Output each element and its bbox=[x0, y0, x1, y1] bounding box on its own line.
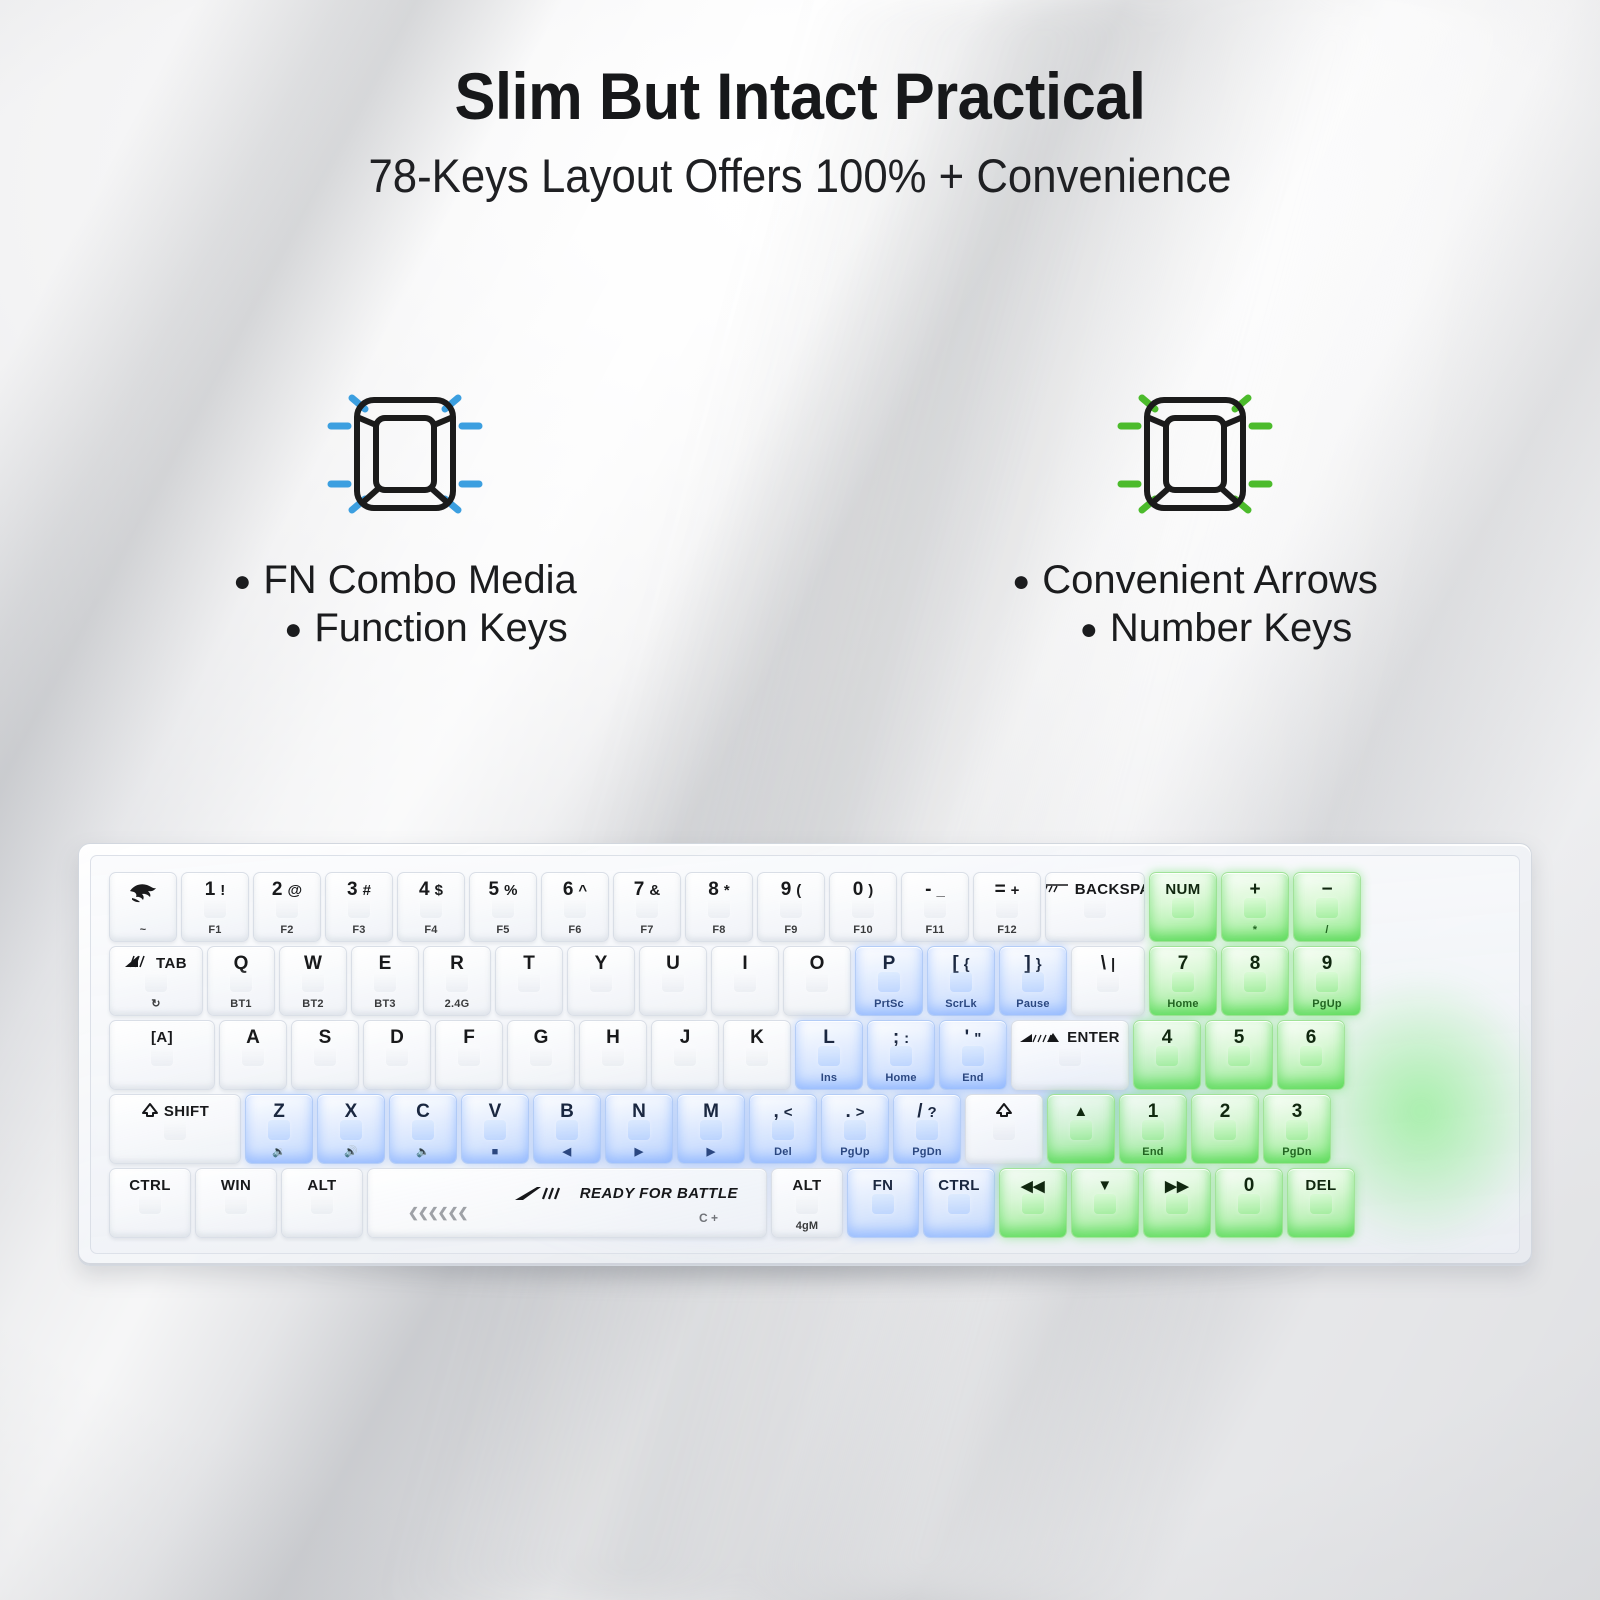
key-legend: U bbox=[640, 954, 706, 973]
key-primary: U bbox=[666, 954, 680, 973]
key-m[interactable]: M▶ bbox=[677, 1094, 745, 1164]
shift-arrow-icon bbox=[141, 1102, 159, 1122]
key-label: ALT bbox=[772, 1176, 842, 1195]
key-sublabel: End bbox=[1120, 1146, 1186, 1158]
key-primary: B bbox=[560, 1102, 574, 1121]
key-primary: M bbox=[703, 1102, 719, 1121]
switch-stem bbox=[708, 898, 730, 918]
key-sublabel: ~ bbox=[110, 924, 176, 936]
key-primary: L bbox=[823, 1028, 835, 1047]
key-primary: \ bbox=[1101, 954, 1106, 973]
key-legend: 5 bbox=[1206, 1028, 1272, 1047]
key-label: ENTER bbox=[1012, 1028, 1128, 1047]
key-legend: 1 bbox=[1120, 1102, 1186, 1121]
key-z[interactable]: Z🔉 bbox=[245, 1094, 313, 1164]
switch-stem bbox=[311, 1194, 333, 1214]
key-legend: 7 bbox=[1150, 954, 1216, 973]
key-legend: H bbox=[580, 1028, 646, 1047]
feature-bullets: ●Convenient Arrows ●Number Keys bbox=[1012, 556, 1378, 652]
key-label: ▶▶ bbox=[1144, 1176, 1210, 1195]
key-y[interactable]: Y bbox=[567, 946, 635, 1016]
switch-stem bbox=[145, 972, 167, 992]
key-sublabel: PgDn bbox=[1264, 1146, 1330, 1158]
key-label: WIN bbox=[196, 1176, 276, 1195]
key-sublabel: F1 bbox=[182, 924, 248, 936]
key-legend: C bbox=[390, 1102, 456, 1121]
key-legend: ]} bbox=[1000, 954, 1066, 973]
switch-stem bbox=[164, 1120, 186, 1140]
key-legend: 1! bbox=[182, 880, 248, 899]
bullet-item: ●FN Combo Media bbox=[233, 556, 577, 604]
key-numpad-0[interactable]: 0 bbox=[1215, 1168, 1283, 1238]
key-legend: D bbox=[364, 1028, 430, 1047]
key-legend: N bbox=[606, 1102, 672, 1121]
key-legend: /? bbox=[894, 1102, 960, 1121]
key-legend: Y bbox=[568, 954, 634, 973]
switch-stem bbox=[806, 972, 828, 992]
key-b[interactable]: B◀ bbox=[533, 1094, 601, 1164]
key-legend: L bbox=[796, 1028, 862, 1047]
key-num[interactable]: NUM bbox=[1149, 872, 1217, 942]
switch-stem bbox=[564, 898, 586, 918]
key-arrow-up[interactable]: ▲ bbox=[1047, 1094, 1115, 1164]
switch-stem bbox=[1156, 1046, 1178, 1066]
switch-stem bbox=[1172, 972, 1194, 992]
switch-stem bbox=[340, 1120, 362, 1140]
switch-stem bbox=[796, 1194, 818, 1214]
key-bracket-left[interactable]: [{ScrLk bbox=[927, 946, 995, 1016]
key-primary: H bbox=[606, 1028, 620, 1047]
switch-stem bbox=[492, 898, 514, 918]
key-sublabel: 2.4G bbox=[424, 998, 490, 1010]
key-tab[interactable]: TAB↻ bbox=[109, 946, 203, 1016]
key-primary: 0 bbox=[1244, 1176, 1255, 1195]
key-primary: = bbox=[995, 880, 1006, 899]
key-numpad-2[interactable]: 2 bbox=[1191, 1094, 1259, 1164]
switch-stem bbox=[890, 1046, 912, 1066]
key-primary: Z bbox=[273, 1102, 285, 1121]
key-primary: W bbox=[304, 954, 322, 973]
key-primary: S bbox=[319, 1028, 332, 1047]
key-comma[interactable]: ,<Del bbox=[749, 1094, 817, 1164]
key-sublabel: * bbox=[1222, 924, 1288, 936]
key-sublabel: F11 bbox=[902, 924, 968, 936]
key-primary: 3 bbox=[347, 880, 358, 899]
key-numpad-3[interactable]: 3PgDn bbox=[1263, 1094, 1331, 1164]
background-vignette bbox=[0, 0, 1600, 1600]
key-secondary: > bbox=[856, 1105, 865, 1120]
key-legend: 5% bbox=[470, 880, 536, 899]
key-l[interactable]: LIns bbox=[795, 1020, 863, 1090]
key-numpad-8[interactable]: 8 bbox=[1221, 946, 1289, 1016]
key-1[interactable]: 1!F1 bbox=[181, 872, 249, 942]
key-primary: 9 bbox=[781, 880, 792, 899]
key-o[interactable]: O bbox=[783, 946, 851, 1016]
key-secondary: _ bbox=[936, 883, 944, 898]
key-legend: S bbox=[292, 1028, 358, 1047]
key-n[interactable]: N▶ bbox=[605, 1094, 673, 1164]
key-primary: + bbox=[1249, 880, 1260, 899]
key-sublabel: F7 bbox=[614, 924, 680, 936]
key-win[interactable]: WIN bbox=[195, 1168, 277, 1238]
headline-block: Slim But Intact Practical 78-Keys Layout… bbox=[0, 58, 1600, 203]
key-primary: A bbox=[246, 1028, 260, 1047]
key-legend: Z bbox=[246, 1102, 312, 1121]
key-legend: 9( bbox=[758, 880, 824, 899]
key-label: ALT bbox=[282, 1176, 362, 1195]
key-legend: '" bbox=[940, 1028, 1006, 1047]
key-media-next[interactable]: ▶▶ bbox=[1143, 1168, 1211, 1238]
key-secondary: % bbox=[504, 883, 517, 898]
key-w[interactable]: WBT2 bbox=[279, 946, 347, 1016]
bullet-dot: ● bbox=[1080, 613, 1098, 646]
switch-stem bbox=[844, 1120, 866, 1140]
switch-stem bbox=[1166, 1194, 1188, 1214]
key-primary: 8 bbox=[1250, 954, 1261, 973]
key-primary: − bbox=[1321, 880, 1332, 899]
key-f[interactable]: F bbox=[435, 1020, 503, 1090]
key-ctrl-right[interactable]: CTRL bbox=[923, 1168, 995, 1238]
key-secondary: & bbox=[649, 883, 660, 898]
key-label: CTRL bbox=[924, 1176, 994, 1195]
key-sublabel: ↻ bbox=[110, 997, 202, 1010]
switch-stem bbox=[993, 1120, 1015, 1140]
key-quote[interactable]: '"End bbox=[939, 1020, 1007, 1090]
key-bracket-right[interactable]: ]}Pause bbox=[999, 946, 1067, 1016]
key-enter[interactable]: ENTER bbox=[1011, 1020, 1129, 1090]
switch-stem bbox=[1070, 1120, 1092, 1140]
switch-stem bbox=[314, 1046, 336, 1066]
key-i[interactable]: I bbox=[711, 946, 779, 1016]
key-primary: 5 bbox=[1234, 1028, 1245, 1047]
key-del[interactable]: DEL bbox=[1287, 1168, 1355, 1238]
key-sublabel: F2 bbox=[254, 924, 320, 936]
key-g[interactable]: G bbox=[507, 1020, 575, 1090]
switch-stem bbox=[700, 1120, 722, 1140]
key-sublabel: 🔉 bbox=[246, 1145, 312, 1158]
key-h[interactable]: H bbox=[579, 1020, 647, 1090]
switch-stem bbox=[1286, 1120, 1308, 1140]
spacebar-texture: ❮❮❮❮❮❮ bbox=[408, 1205, 467, 1221]
key-numpad-1[interactable]: 1End bbox=[1119, 1094, 1187, 1164]
key-secondary: # bbox=[363, 883, 371, 898]
key-t[interactable]: T bbox=[495, 946, 563, 1016]
key-legend: P bbox=[856, 954, 922, 973]
switch-stem bbox=[628, 1120, 650, 1140]
switch-stem bbox=[458, 1046, 480, 1066]
key-primary: Q bbox=[234, 954, 249, 973]
key-label: BACKSPACE bbox=[1046, 880, 1144, 899]
key-primary: N bbox=[632, 1102, 646, 1121]
key-fn[interactable]: FN bbox=[847, 1168, 919, 1238]
key-legend: B bbox=[534, 1102, 600, 1121]
bullet-label: Number Keys bbox=[1110, 606, 1352, 650]
key-secondary: @ bbox=[287, 883, 302, 898]
key-legend: 0) bbox=[830, 880, 896, 899]
key-d[interactable]: D bbox=[363, 1020, 431, 1090]
switch-stem bbox=[1238, 1194, 1260, 1214]
key-period[interactable]: .>PgUp bbox=[821, 1094, 889, 1164]
key-numpad-9[interactable]: 9PgUp bbox=[1293, 946, 1361, 1016]
key-primary: C bbox=[416, 1102, 430, 1121]
key-sublabel: Home bbox=[868, 1072, 934, 1084]
key-primary: E bbox=[379, 954, 392, 973]
bullet-label: Convenient Arrows bbox=[1042, 558, 1378, 602]
key-legend: A bbox=[220, 1028, 286, 1047]
switch-stem bbox=[1142, 1120, 1164, 1140]
key-label bbox=[966, 1102, 1042, 1121]
key-primary: F bbox=[463, 1028, 475, 1047]
key-primary: 1 bbox=[1148, 1102, 1159, 1121]
switch-stem bbox=[818, 1046, 840, 1066]
key-q[interactable]: QBT1 bbox=[207, 946, 275, 1016]
switch-stem bbox=[950, 972, 972, 992]
key-secondary: | bbox=[1111, 957, 1115, 972]
key-primary: ; bbox=[893, 1028, 899, 1047]
key-sublabel: ▶ bbox=[606, 1145, 672, 1158]
key-primary: [ bbox=[952, 954, 958, 973]
key-legend: R bbox=[424, 954, 490, 973]
key-secondary: + bbox=[1011, 883, 1020, 898]
key-sublabel: F3 bbox=[326, 924, 392, 936]
keyboard-row-qwerty-row: TAB↻QBT1WBT2EBT3R2.4GTYUIOPPrtSc[{ScrLk]… bbox=[109, 946, 1505, 1016]
key-sublabel: F9 bbox=[758, 924, 824, 936]
key-secondary: ? bbox=[928, 1105, 937, 1120]
switch-stem bbox=[602, 1046, 624, 1066]
key-legend: 8* bbox=[686, 880, 752, 899]
key-6[interactable]: 6^F6 bbox=[541, 872, 609, 942]
switch-stem bbox=[772, 1120, 794, 1140]
key-legend: 3 bbox=[1264, 1102, 1330, 1121]
key-label: ◀◀ bbox=[1000, 1176, 1066, 1195]
key-sublabel: PgDn bbox=[894, 1146, 960, 1158]
key-4[interactable]: 4$F4 bbox=[397, 872, 465, 942]
key-primary: D bbox=[390, 1028, 404, 1047]
spacebar-sub-label: C + bbox=[699, 1211, 718, 1225]
key-secondary: } bbox=[1036, 957, 1042, 972]
switch-stem bbox=[412, 1120, 434, 1140]
key-primary: 8 bbox=[708, 880, 719, 899]
key-3[interactable]: 3#F3 bbox=[325, 872, 393, 942]
key-label: SHIFT bbox=[110, 1102, 240, 1121]
key-s[interactable]: S bbox=[291, 1020, 359, 1090]
key-minus[interactable]: -_F11 bbox=[901, 872, 969, 942]
switch-stem bbox=[1316, 898, 1338, 918]
key-label: CTRL bbox=[110, 1176, 190, 1195]
switch-stem bbox=[1300, 1046, 1322, 1066]
key-space[interactable]: READY FOR BATTLEC +❮❮❮❮❮❮ bbox=[367, 1168, 767, 1238]
key-primary: ] bbox=[1024, 954, 1030, 973]
key-secondary: ( bbox=[796, 883, 801, 898]
key-secondary: * bbox=[724, 883, 730, 898]
switch-stem bbox=[916, 1120, 938, 1140]
key-sublabel: F5 bbox=[470, 924, 536, 936]
key-legend: − bbox=[1294, 880, 1360, 899]
key-sublabel: Del bbox=[750, 1146, 816, 1158]
switch-stem bbox=[484, 1120, 506, 1140]
key-arrow-down[interactable]: ▼ bbox=[1071, 1168, 1139, 1238]
switch-stem bbox=[962, 1046, 984, 1066]
feature-arrows-numpad: ●Convenient Arrows ●Number Keys bbox=[985, 378, 1405, 652]
switch-stem bbox=[225, 1194, 247, 1214]
switch-stem bbox=[556, 1120, 578, 1140]
key-shift-right[interactable] bbox=[965, 1094, 1043, 1164]
key-alt-left[interactable]: ALT bbox=[281, 1168, 363, 1238]
key-legend: 4$ bbox=[398, 880, 464, 899]
key-legend: ;: bbox=[868, 1028, 934, 1047]
keyboard-product-image: ~1!F12@F23#F34$F45%F56^F67&F78*F89(F90)F… bbox=[78, 843, 1532, 1266]
switch-stem bbox=[780, 898, 802, 918]
key-legend: 9 bbox=[1294, 954, 1360, 973]
tab-icon bbox=[125, 954, 151, 973]
key-legend: J bbox=[652, 1028, 718, 1047]
key-numpad-minus[interactable]: −/ bbox=[1293, 872, 1361, 942]
keyboard-row-home-row: [A]ASDFGHJKLIns;:Home'"EndENTER456 bbox=[109, 1020, 1505, 1090]
switch-stem bbox=[348, 898, 370, 918]
key-legend: K bbox=[724, 1028, 790, 1047]
bullet-label: FN Combo Media bbox=[263, 558, 576, 602]
key-capslock[interactable]: [A] bbox=[109, 1020, 215, 1090]
key-numpad-5[interactable]: 5 bbox=[1205, 1020, 1273, 1090]
switch-stem bbox=[139, 1194, 161, 1214]
key-numpad-7[interactable]: 7Home bbox=[1149, 946, 1217, 1016]
key-logo[interactable]: ~ bbox=[109, 872, 177, 942]
key-primary: 6 bbox=[563, 880, 574, 899]
switch-stem bbox=[151, 1046, 173, 1066]
switch-stem bbox=[1316, 972, 1338, 992]
bullet-item: ●Number Keys bbox=[1012, 604, 1378, 652]
key-primary: 2 bbox=[1220, 1102, 1231, 1121]
key-8[interactable]: 8*F8 bbox=[685, 872, 753, 942]
keycap-icon bbox=[319, 378, 491, 530]
switch-stem bbox=[1172, 898, 1194, 918]
key-legend: Q bbox=[208, 954, 274, 973]
key-k[interactable]: K bbox=[723, 1020, 791, 1090]
key-legend: 0 bbox=[1216, 1176, 1282, 1195]
key-5[interactable]: 5%F5 bbox=[469, 872, 537, 942]
switch-stem bbox=[1022, 1194, 1044, 1214]
key-label: NUM bbox=[1150, 880, 1216, 899]
key-7[interactable]: 7&F7 bbox=[613, 872, 681, 942]
key-legend: X bbox=[318, 1102, 384, 1121]
key-legend: V bbox=[462, 1102, 528, 1121]
key-sublabel: PgUp bbox=[822, 1146, 888, 1158]
key-9[interactable]: 9(F9 bbox=[757, 872, 825, 942]
key-legend: \| bbox=[1072, 954, 1144, 973]
key-primary: 1 bbox=[205, 880, 216, 899]
switch-stem bbox=[878, 972, 900, 992]
key-c[interactable]: C🔈 bbox=[389, 1094, 457, 1164]
key-numpad-6[interactable]: 6 bbox=[1277, 1020, 1345, 1090]
key-primary: J bbox=[680, 1028, 691, 1047]
key-ctrl-left[interactable]: CTRL bbox=[109, 1168, 191, 1238]
key-sublabel: Pause bbox=[1000, 998, 1066, 1010]
key-primary: 7 bbox=[634, 880, 645, 899]
key-primary: 2 bbox=[272, 880, 283, 899]
key-primary: 3 bbox=[1292, 1102, 1303, 1121]
key-primary: 4 bbox=[419, 880, 430, 899]
switch-stem bbox=[948, 1194, 970, 1214]
key-primary: 5 bbox=[489, 880, 500, 899]
keyboard-rows: ~1!F12@F23#F34$F45%F56^F67&F78*F89(F90)F… bbox=[109, 872, 1505, 1242]
feature-list: ●FN Combo Media ●Function Keys bbox=[0, 378, 1600, 652]
key-sublabel: / bbox=[1294, 924, 1360, 936]
bullet-label: Function Keys bbox=[314, 606, 567, 650]
key-sublabel: F6 bbox=[542, 924, 608, 936]
keycap-icon bbox=[1109, 378, 1281, 530]
key-primary: I bbox=[742, 954, 747, 973]
key-backspace[interactable]: BACKSPACE bbox=[1045, 872, 1145, 942]
key-sublabel: ◀ bbox=[534, 1145, 600, 1158]
keyboard-row-function-row: ~1!F12@F23#F34$F45%F56^F67&F78*F89(F90)F… bbox=[109, 872, 1505, 942]
key-primary: / bbox=[917, 1102, 922, 1121]
keyboard-row-shift-row: SHIFTZ🔉X🔊C🔈V■B◀N▶M▶,<Del.>PgUp/?PgDn▲1En… bbox=[109, 1094, 1505, 1164]
spacebar-text: READY FOR BATTLE bbox=[580, 1185, 738, 1202]
key-x[interactable]: X🔊 bbox=[317, 1094, 385, 1164]
enter-icon bbox=[1020, 1031, 1062, 1044]
key-label: ▼ bbox=[1072, 1176, 1138, 1195]
key-sublabel: 🔊 bbox=[318, 1145, 384, 1158]
bullet-item: ●Convenient Arrows bbox=[1012, 556, 1378, 604]
key-e[interactable]: EBT3 bbox=[351, 946, 419, 1016]
switch-stem bbox=[674, 1046, 696, 1066]
switch-stem bbox=[1228, 1046, 1250, 1066]
key-legend: -_ bbox=[902, 880, 968, 899]
key-primary: 7 bbox=[1178, 954, 1189, 973]
key-primary: K bbox=[750, 1028, 764, 1047]
key-r[interactable]: R2.4G bbox=[423, 946, 491, 1016]
key-legend: 2 bbox=[1192, 1102, 1258, 1121]
backspace-icon bbox=[1045, 884, 1070, 895]
key-legend: 6^ bbox=[542, 880, 608, 899]
key-numpad-4[interactable]: 4 bbox=[1133, 1020, 1201, 1090]
switch-stem bbox=[1244, 898, 1266, 918]
key-primary: Y bbox=[595, 954, 608, 973]
key-alt-right[interactable]: ALT4gM bbox=[771, 1168, 843, 1238]
switch-stem bbox=[1214, 1120, 1236, 1140]
key-a[interactable]: A bbox=[219, 1020, 287, 1090]
key-legend: G bbox=[508, 1028, 574, 1047]
key-numpad-plus[interactable]: +* bbox=[1221, 872, 1289, 942]
switch-stem bbox=[230, 972, 252, 992]
key-legend: ,< bbox=[750, 1102, 816, 1121]
key-primary: - bbox=[925, 880, 931, 899]
key-media-prev[interactable]: ◀◀ bbox=[999, 1168, 1067, 1238]
key-legend: E bbox=[352, 954, 418, 973]
key-sublabel: ScrLk bbox=[928, 998, 994, 1010]
key-slash[interactable]: /?PgDn bbox=[893, 1094, 961, 1164]
key-u[interactable]: U bbox=[639, 946, 707, 1016]
key-sublabel: BT2 bbox=[280, 998, 346, 1010]
key-v[interactable]: V■ bbox=[461, 1094, 529, 1164]
key-shift-left[interactable]: SHIFT bbox=[109, 1094, 241, 1164]
key-j[interactable]: J bbox=[651, 1020, 719, 1090]
key-0[interactable]: 0)F10 bbox=[829, 872, 897, 942]
key-sublabel: ■ bbox=[462, 1146, 528, 1158]
redragon-dragon-logo bbox=[128, 882, 158, 906]
key-legend: .> bbox=[822, 1102, 888, 1121]
feature-bullets: ●FN Combo Media ●Function Keys bbox=[233, 556, 577, 652]
key-label: ▲ bbox=[1048, 1102, 1114, 1121]
key-label: FN bbox=[848, 1176, 918, 1195]
key-2[interactable]: 2@F2 bbox=[253, 872, 321, 942]
key-equal[interactable]: =+F12 bbox=[973, 872, 1041, 942]
key-sublabel: F12 bbox=[974, 924, 1040, 936]
key-backslash[interactable]: \| bbox=[1071, 946, 1145, 1016]
key-p[interactable]: PPrtSc bbox=[855, 946, 923, 1016]
key-semicolon[interactable]: ;:Home bbox=[867, 1020, 935, 1090]
key-legend: O bbox=[784, 954, 850, 973]
